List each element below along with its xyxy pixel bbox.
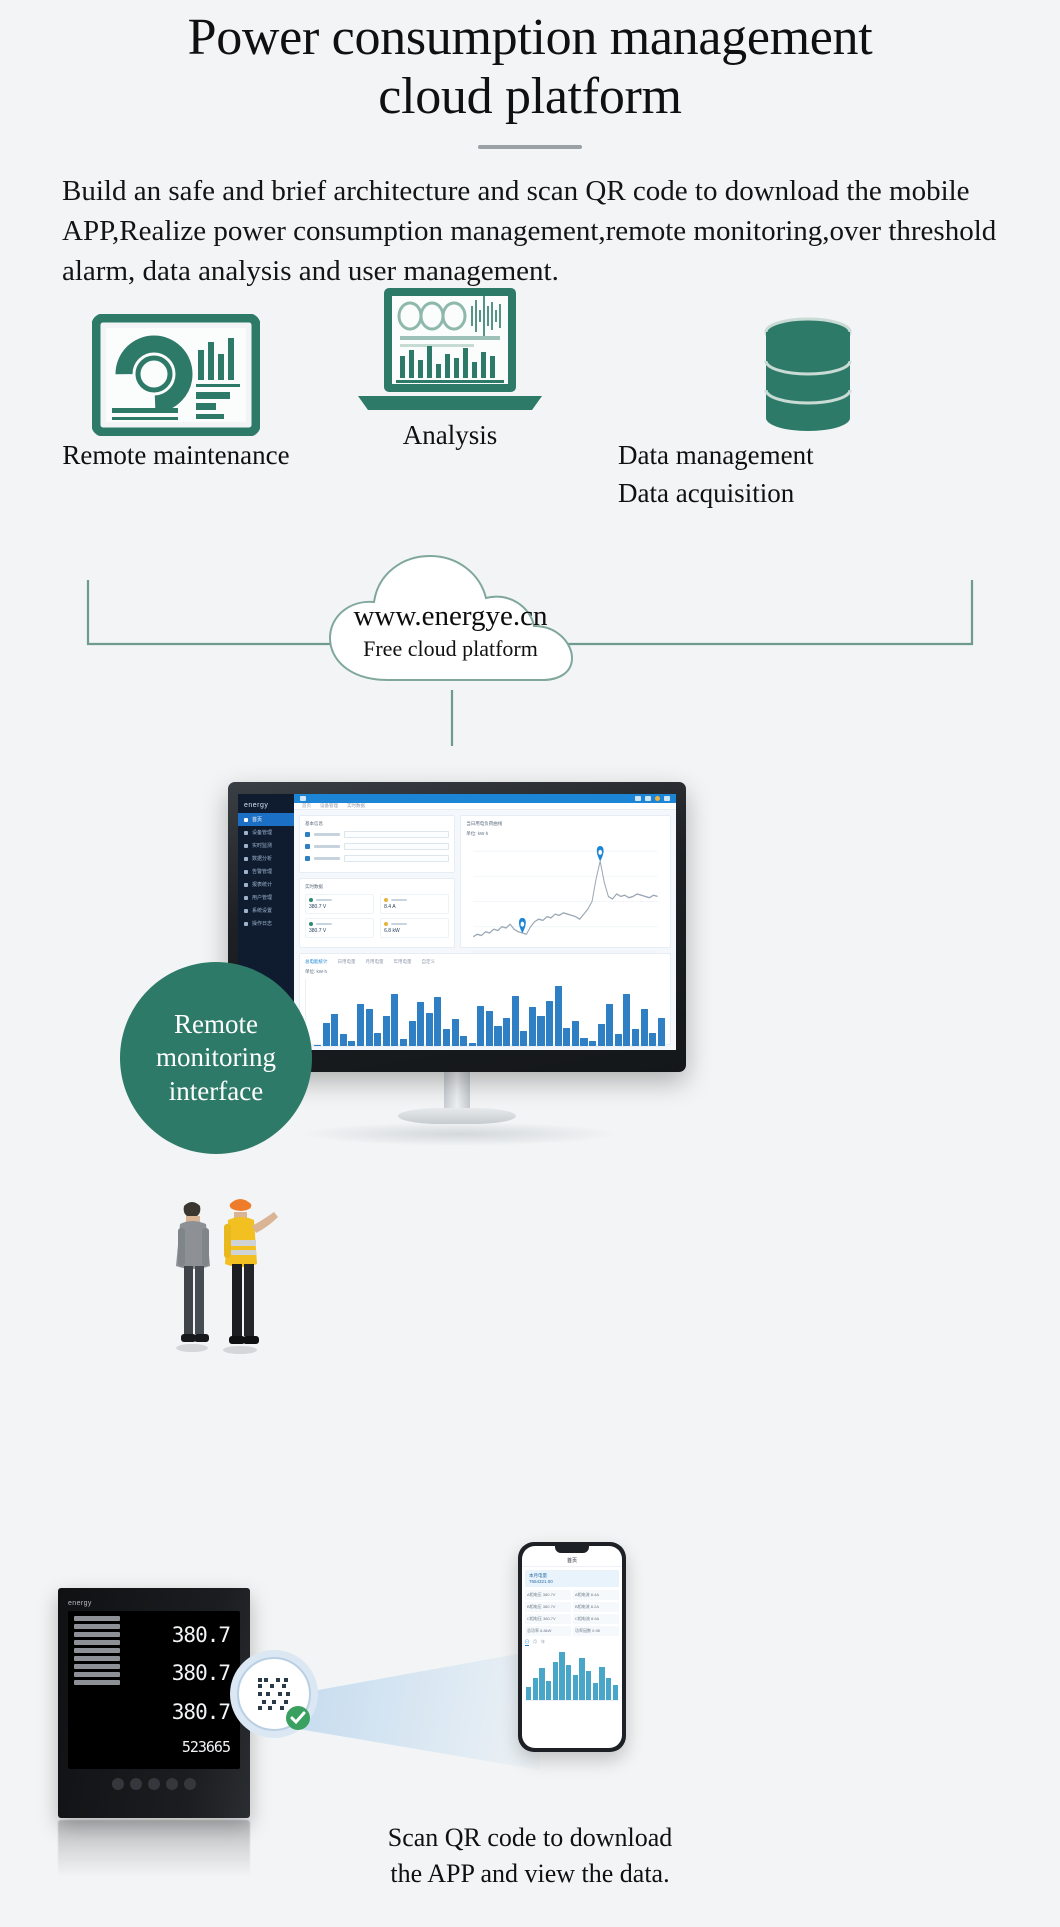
bar (331, 1014, 338, 1046)
energy-bar-unit: 单位: kW·h (305, 969, 665, 975)
bar (606, 1678, 611, 1700)
hero-section: Power consumption management cloud platf… (0, 0, 1060, 291)
sidebar-label-device: 设备管理 (252, 829, 272, 836)
cloud-platform-badge: www.energye.cn Free cloud platform (318, 548, 583, 688)
bar (613, 1685, 618, 1700)
cloud-url[interactable]: www.energye.cn (318, 600, 583, 634)
status-dot-yellow (384, 898, 388, 902)
lcd-indicator (74, 1632, 120, 1637)
app-tab-year[interactable]: 年 (541, 1639, 545, 1646)
device-icon (244, 831, 248, 835)
app-metric-grid: A相电压 380.7V A相电流 8.4A B相电压 380.7V B相电流 8… (522, 1590, 622, 1636)
avatar[interactable] (655, 796, 660, 801)
log-icon (244, 922, 248, 926)
feature-data-management: Data management Data acquisition (610, 296, 1060, 513)
analysis-icon (244, 857, 248, 861)
bar (559, 1652, 564, 1700)
dashboard-screen[interactable]: energy 首页 设备管理 实时监测 数据分析 告警管理 报表统计 用户管理 … (238, 794, 676, 1050)
bottom-caption-line1: Scan QR code to download (388, 1823, 673, 1852)
status-dot-green (309, 898, 313, 902)
bar (400, 1039, 407, 1046)
breadcrumb-item-0[interactable]: 首页 (302, 803, 311, 809)
realtime-meter-card: 实时数据 380.7 V 8.4 A 380.7 V 6.8 kW (299, 878, 455, 948)
bar (443, 1029, 450, 1046)
lcd-indicator (74, 1672, 120, 1677)
language-icon[interactable] (645, 796, 651, 801)
badge-line1: Remote (174, 1009, 258, 1039)
device-name-input[interactable] (344, 831, 449, 838)
bar (426, 1013, 433, 1047)
form-row (305, 855, 449, 862)
meter-value: 380.7 V (309, 928, 370, 934)
bar-tab-0[interactable]: 总电能统计 (305, 959, 328, 965)
app-banner: 本月电量 7654321.00 (525, 1570, 619, 1587)
feature-analysis: Analysis (330, 276, 570, 454)
logout-icon[interactable] (664, 796, 670, 801)
field-label (314, 857, 340, 860)
power-meter-device: energy 380.7 380.7 380.7 523665 (58, 1588, 250, 1818)
sidebar-item-home[interactable]: 首页 (238, 813, 294, 826)
sidebar-item-monitor[interactable]: 实时监测 (238, 839, 294, 852)
remote-monitoring-badge: Remote monitoring interface (120, 962, 312, 1154)
feature-icon-row: Remote maintenance (0, 296, 1060, 566)
bar (593, 1683, 598, 1700)
meter-left-button[interactable] (130, 1778, 142, 1790)
monitor-icon (244, 844, 248, 848)
bar (434, 997, 441, 1046)
lcd-indicator (74, 1648, 120, 1653)
mobile-app-mockup[interactable]: 首页 本月电量 7654321.00 A相电压 380.7V A相电流 8.4A… (518, 1542, 626, 1752)
bottom-caption-line2: the APP and view the data. (390, 1859, 669, 1888)
lcd-indicator (74, 1640, 120, 1645)
bar (579, 1658, 584, 1700)
bar (566, 1665, 571, 1700)
feature-label-data-acquisition: Data acquisition (610, 474, 1060, 512)
bar (598, 1024, 605, 1046)
bottom-caption: Scan QR code to download the APP and vie… (0, 1820, 1060, 1892)
badge-line3: interface (169, 1076, 263, 1106)
lcd-indicator (74, 1624, 120, 1629)
dashboard-main: 首页 设备管理 实时数据 基本信息 实时数据 (294, 794, 676, 1050)
sidebar-label-monitor: 实时监测 (252, 842, 272, 849)
meter-enter-button[interactable] (148, 1778, 160, 1790)
sidebar-item-user[interactable]: 用户管理 (238, 891, 294, 904)
bar (417, 1002, 424, 1046)
bar (539, 1668, 544, 1700)
form-row (305, 831, 449, 838)
bar (529, 1007, 536, 1046)
bar (623, 994, 630, 1046)
app-tab-day[interactable]: 日 (525, 1639, 529, 1646)
load-curve-chart[interactable] (466, 841, 665, 962)
topbar-left (300, 796, 306, 801)
fullscreen-icon[interactable] (635, 796, 641, 801)
lcd-reading-1: 380.7 (172, 1625, 230, 1646)
feature-remote-maintenance: Remote maintenance (0, 296, 366, 474)
load-curve-title: 当日用电负荷曲线 (466, 821, 665, 827)
menu-collapse-icon[interactable] (300, 796, 306, 801)
device-location-input[interactable] (344, 855, 449, 862)
meter-row: 380.7 V 6.8 kW (305, 918, 449, 938)
app-metric-item: C相电压 380.7V (525, 1614, 571, 1624)
lcd-indicator (74, 1616, 120, 1621)
meter-value: 6.8 kW (384, 928, 445, 934)
bar (512, 996, 519, 1046)
meter-brand-label: energy (68, 1600, 240, 1607)
lcd-indicator (74, 1664, 120, 1669)
monitor-stand-base (398, 1108, 516, 1124)
bar (546, 1681, 551, 1700)
load-curve-card: 当日用电负荷曲线 单位: kW·h (460, 815, 671, 948)
bar (553, 1662, 558, 1700)
laptop-analysis-icon (330, 276, 570, 416)
status-dot-green (309, 922, 313, 926)
bar (383, 1016, 390, 1046)
bar (641, 1009, 648, 1046)
app-bar-chart[interactable] (526, 1649, 618, 1701)
meter-cell: 380.7 V (305, 918, 374, 938)
app-metric-item: 功率因数 0.98 (573, 1626, 619, 1636)
feature-label-data-management: Data management (610, 436, 1060, 474)
sidebar-label-home: 首页 (252, 816, 262, 823)
scan-beam (300, 1650, 540, 1770)
dashboard-report-icon (0, 296, 366, 436)
sidebar-item-device[interactable]: 设备管理 (238, 826, 294, 839)
meter-button-row[interactable] (68, 1778, 240, 1790)
dashboard-left-column: 基本信息 实时数据 380.7 V 8.4 A (299, 815, 455, 948)
remote-monitoring-badge-text: Remote monitoring interface (156, 1008, 276, 1108)
bar (599, 1667, 604, 1701)
lcd-reading-4: 523665 (182, 1740, 230, 1755)
field-icon (305, 844, 310, 849)
field-label (314, 833, 340, 836)
bar (374, 1033, 381, 1046)
bar (563, 1028, 570, 1046)
app-metric-item: B相电压 380.7V (525, 1602, 571, 1612)
sidebar-label-settings: 系统设置 (252, 907, 272, 914)
meter-set-button[interactable] (112, 1778, 124, 1790)
bar (366, 1009, 373, 1046)
load-curve-unit: 单位: kW·h (466, 831, 665, 837)
meter-label (391, 899, 407, 902)
device-form-card: 基本信息 (299, 815, 455, 873)
bar (503, 1018, 510, 1046)
alarm-icon (244, 870, 248, 874)
status-dot-yellow (384, 922, 388, 926)
sidebar-item-settings[interactable]: 系统设置 (238, 904, 294, 917)
bar (632, 1029, 639, 1046)
page-title: Power consumption management cloud platf… (0, 8, 1060, 127)
dashboard-topbar[interactable] (294, 794, 676, 803)
field-label (314, 845, 340, 848)
meter-label (391, 923, 407, 926)
bar-tab-3[interactable]: 年用电量 (394, 959, 412, 965)
meter-value: 380.7 V (309, 904, 370, 910)
form-row (305, 843, 449, 850)
qr-code-sensor (228, 1648, 320, 1740)
lcd-reading-3: 380.7 (172, 1702, 230, 1723)
sidebar-label-alarm: 告警管理 (252, 868, 272, 875)
lcd-indicator (74, 1680, 120, 1685)
monitor-shadow (300, 1122, 618, 1146)
sidebar-label-analysis: 数据分析 (252, 855, 272, 862)
bar (409, 1021, 416, 1046)
app-banner-value: 7654321.00 (529, 1579, 615, 1584)
user-icon (244, 896, 248, 900)
energy-bar-chart[interactable] (305, 979, 665, 1047)
bar-tab-4[interactable]: 自定义 (422, 959, 436, 965)
bar (649, 1033, 656, 1046)
monitor-section: energy 首页 设备管理 实时监测 数据分析 告警管理 报表统计 用户管理 … (0, 930, 1060, 1250)
app-tab-month[interactable]: 月 (533, 1639, 537, 1646)
field-icon (305, 832, 310, 837)
bar (658, 1018, 665, 1046)
lcd-indicator-column (74, 1616, 120, 1764)
energy-bar-card: 总电能统计 日用电量 月用电量 年用电量 自定义 单位: kW·h (299, 953, 671, 1045)
bar (469, 1043, 476, 1046)
bar (452, 1019, 459, 1046)
breadcrumb: 首页 设备管理 实时数据 (294, 803, 676, 810)
bar (615, 1034, 622, 1046)
bar (323, 1023, 330, 1046)
app-metric-item: A相电压 380.7V (525, 1590, 571, 1600)
bar (340, 1034, 347, 1046)
bar (486, 1011, 493, 1046)
bar (526, 1687, 531, 1700)
meter-cell: 6.8 kW (380, 918, 449, 938)
app-metric-item: B相电流 8.2A (573, 1602, 619, 1612)
notch-bar (555, 1546, 589, 1553)
lcd-reading-2: 380.7 (172, 1663, 230, 1684)
app-metric-item: 总功率 6.8kW (525, 1626, 571, 1636)
bar (460, 1036, 467, 1046)
app-metric-item: C相电流 8.6A (573, 1614, 619, 1624)
bar (314, 1045, 321, 1046)
meter-value: 8.4 A (384, 904, 445, 910)
bar (391, 994, 398, 1046)
field-icon (305, 856, 310, 861)
title-divider (478, 145, 582, 149)
sidebar-label-report: 报表统计 (252, 881, 272, 888)
bar (494, 1026, 501, 1046)
meter-row: 380.7 V 8.4 A (305, 894, 449, 914)
device-form-title: 基本信息 (305, 821, 449, 827)
sidebar-item-report[interactable]: 报表统计 (238, 878, 294, 891)
home-icon (244, 818, 248, 822)
bottom-section: energy 380.7 380.7 380.7 523665 (0, 1520, 1060, 1927)
app-tab-bar[interactable]: 日 月 年 (522, 1636, 622, 1649)
phone-notch (522, 1546, 622, 1555)
phone-screen[interactable]: 首页 本月电量 7654321.00 A相电压 380.7V A相电流 8.4A… (522, 1546, 622, 1748)
people-illustration (160, 1188, 280, 1358)
bar (533, 1678, 538, 1700)
app-title: 首页 (522, 1555, 622, 1567)
dashboard-body: 基本信息 实时数据 380.7 V 8.4 A (294, 810, 676, 953)
lcd-indicator (74, 1656, 120, 1661)
topbar-right (635, 796, 670, 801)
meter-cell: 380.7 V (305, 894, 374, 914)
bar-tab-1[interactable]: 日用电量 (338, 959, 356, 965)
bar (477, 1006, 484, 1046)
meter-label (316, 899, 332, 902)
dashboard-logo: energy (238, 798, 294, 813)
meter-esc-button[interactable] (184, 1778, 196, 1790)
hero-paragraph: Build an safe and brief architecture and… (62, 171, 998, 291)
bar (580, 1038, 587, 1046)
sidebar-item-analysis[interactable]: 数据分析 (238, 852, 294, 865)
report-icon (244, 883, 248, 887)
sidebar-item-logs[interactable]: 操作日志 (238, 917, 294, 930)
meter-down-button[interactable] (166, 1778, 178, 1790)
page-title-line1: Power consumption management (188, 9, 873, 66)
energy-bar-tabs[interactable]: 总电能统计 日用电量 月用电量 年用电量 自定义 (305, 959, 665, 965)
meter-cell: 8.4 A (380, 894, 449, 914)
bar (589, 1041, 596, 1046)
bar (573, 1675, 578, 1700)
bar (357, 1004, 364, 1046)
cloud-tagline: Free cloud platform (318, 636, 583, 662)
database-stack-icon (610, 296, 1060, 436)
device-code-input[interactable] (344, 843, 449, 850)
feature-label-analysis: Analysis (330, 416, 570, 454)
meter-label (316, 923, 332, 926)
bar (555, 986, 562, 1046)
dashboard-right-column: 当日用电负荷曲线 单位: kW·h (460, 815, 671, 948)
bar (572, 1021, 579, 1046)
bar (606, 1004, 613, 1046)
app-metric-item: A相电流 8.4A (573, 1590, 619, 1600)
lcd-readout-column: 380.7 380.7 380.7 523665 (120, 1616, 234, 1764)
bar (520, 1031, 527, 1046)
person-suit (176, 1202, 210, 1352)
badge-line2: monitoring (156, 1042, 276, 1072)
page-title-line2: cloud platform (378, 68, 681, 125)
breadcrumb-item-2: 实时数据 (347, 803, 365, 809)
breadcrumb-item-1[interactable]: 设备管理 (320, 803, 338, 809)
sidebar-item-alarm[interactable]: 告警管理 (238, 865, 294, 878)
bar (546, 1001, 553, 1046)
feature-label-remote-maintenance: Remote maintenance (0, 436, 366, 474)
bar (348, 1041, 355, 1046)
realtime-meter-title: 实时数据 (305, 884, 449, 890)
bar-tab-2[interactable]: 月用电量 (366, 959, 384, 965)
sidebar-label-logs: 操作日志 (252, 920, 272, 927)
gear-icon (244, 909, 248, 913)
bar (586, 1671, 591, 1700)
meter-lcd: 380.7 380.7 380.7 523665 (68, 1611, 240, 1769)
person-worker (223, 1199, 278, 1354)
sidebar-label-user: 用户管理 (252, 894, 272, 901)
bar (537, 1016, 544, 1046)
